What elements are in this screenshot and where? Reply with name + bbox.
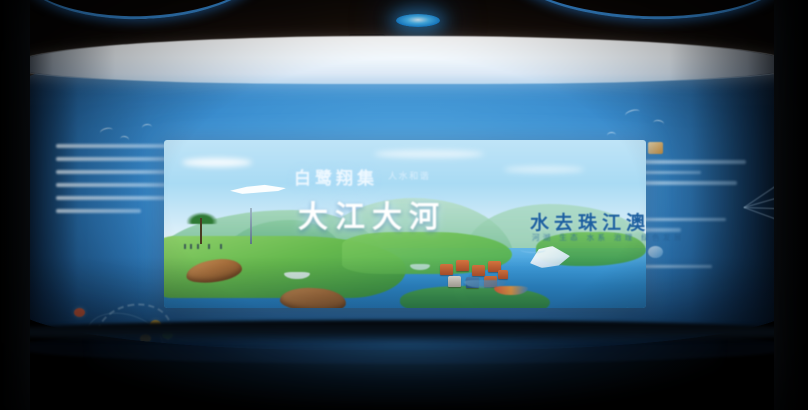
house-icon (440, 264, 453, 275)
person-figure (208, 244, 210, 249)
bird-icon (119, 135, 129, 143)
pavilion-sail-structure (530, 246, 570, 268)
tree-canopy (186, 212, 218, 224)
river-water (164, 248, 646, 308)
white-egret-graphic (230, 182, 286, 198)
right-info-block (604, 245, 746, 269)
river-bend (454, 244, 646, 308)
factory-icon (648, 142, 663, 154)
secondary-subtitle: 河湖 生态 水系 治理 绿色发展 (532, 232, 685, 243)
rock-formation (185, 256, 244, 286)
right-text-line (604, 181, 737, 185)
house-icon (498, 270, 508, 279)
green-land-middle (342, 232, 512, 274)
floor-light-reflection (90, 336, 720, 406)
wall-surface: 长江经济带生态环境保护修复总体方案 (16, 40, 792, 350)
sky-layer (164, 140, 646, 308)
left-text-line (56, 183, 167, 187)
right-text-line (604, 171, 701, 175)
fish-icon (626, 199, 641, 211)
icon-row (604, 198, 746, 213)
boat-icon (494, 286, 528, 295)
room-wall-right (774, 0, 808, 410)
person-figure (190, 244, 192, 249)
bird-icon (653, 119, 665, 127)
exhibition-hall-scene: 长江经济带生态环境保护修复总体方案 (0, 0, 808, 410)
wave-icon (520, 246, 546, 253)
house-icon (472, 265, 485, 276)
cloud (504, 166, 584, 173)
water-drop-icon (604, 142, 619, 154)
cloud (182, 158, 252, 167)
floor-wall-junction (0, 320, 808, 344)
house-icon (456, 260, 469, 271)
cloud (374, 150, 484, 158)
left-text-line (56, 144, 174, 148)
right-text-line (604, 265, 712, 269)
mountain-range (464, 204, 646, 254)
riverscape-illustration[interactable] (164, 140, 646, 308)
tree-trunk (200, 218, 202, 244)
house-icon (448, 276, 461, 287)
right-info-column: 数据来源:流域生态监测中心 (604, 140, 746, 281)
green-land-right (536, 232, 646, 266)
right-text-line (604, 218, 726, 222)
icon-row (604, 245, 746, 260)
page-title: 大江大河 (298, 192, 446, 236)
green-land-bottom (400, 286, 550, 308)
village-cluster (436, 258, 516, 292)
bird-icon (624, 108, 640, 119)
leaf-icon (604, 246, 619, 258)
right-info-block (604, 198, 746, 232)
secondary-title: 水去珠江澳 (530, 208, 650, 235)
house-icon (466, 277, 479, 288)
mountain-range (164, 210, 384, 262)
wall-top-shading (14, 36, 794, 84)
person-figure (220, 244, 222, 249)
recycle-icon (626, 246, 641, 258)
diagram-node-icon (74, 308, 85, 317)
curved-display-wall[interactable]: 长江经济带生态环境保护修复总体方案 (16, 40, 792, 350)
mountain-range (314, 198, 514, 260)
mountain-range (224, 220, 344, 258)
house-icon (488, 261, 501, 272)
wave-icon (626, 142, 641, 154)
house-icon (484, 276, 497, 287)
monitor-icon (648, 246, 663, 258)
person-figure (184, 244, 186, 249)
rock-formation (279, 286, 347, 308)
left-text-column: 长江经济带生态环境保护修复总体方案 (56, 144, 174, 222)
water-reflection (200, 266, 370, 288)
left-text-line (56, 157, 170, 161)
left-text-line (56, 196, 174, 200)
right-info-block (604, 140, 746, 185)
headline-overline-sub: 人水和谐 (388, 169, 430, 182)
person-figure (197, 244, 199, 249)
blue-ceiling-spotlight (396, 14, 440, 27)
bird-icon (99, 127, 113, 137)
boat-icon (464, 280, 506, 288)
right-text-line (604, 160, 746, 164)
right-text-line (604, 228, 681, 232)
bird-icon (607, 132, 616, 140)
boat-icon (604, 199, 619, 211)
icon-row (604, 140, 746, 155)
green-land-left (164, 236, 406, 298)
left-text-line (56, 170, 173, 174)
headline-overline: 白鹭翔集 (294, 164, 378, 189)
utility-pole (250, 208, 252, 244)
left-text-line (56, 209, 141, 213)
boat-icon (284, 272, 310, 279)
room-wall-left (0, 0, 30, 410)
bird-icon (142, 123, 153, 131)
boat-icon (410, 264, 430, 270)
